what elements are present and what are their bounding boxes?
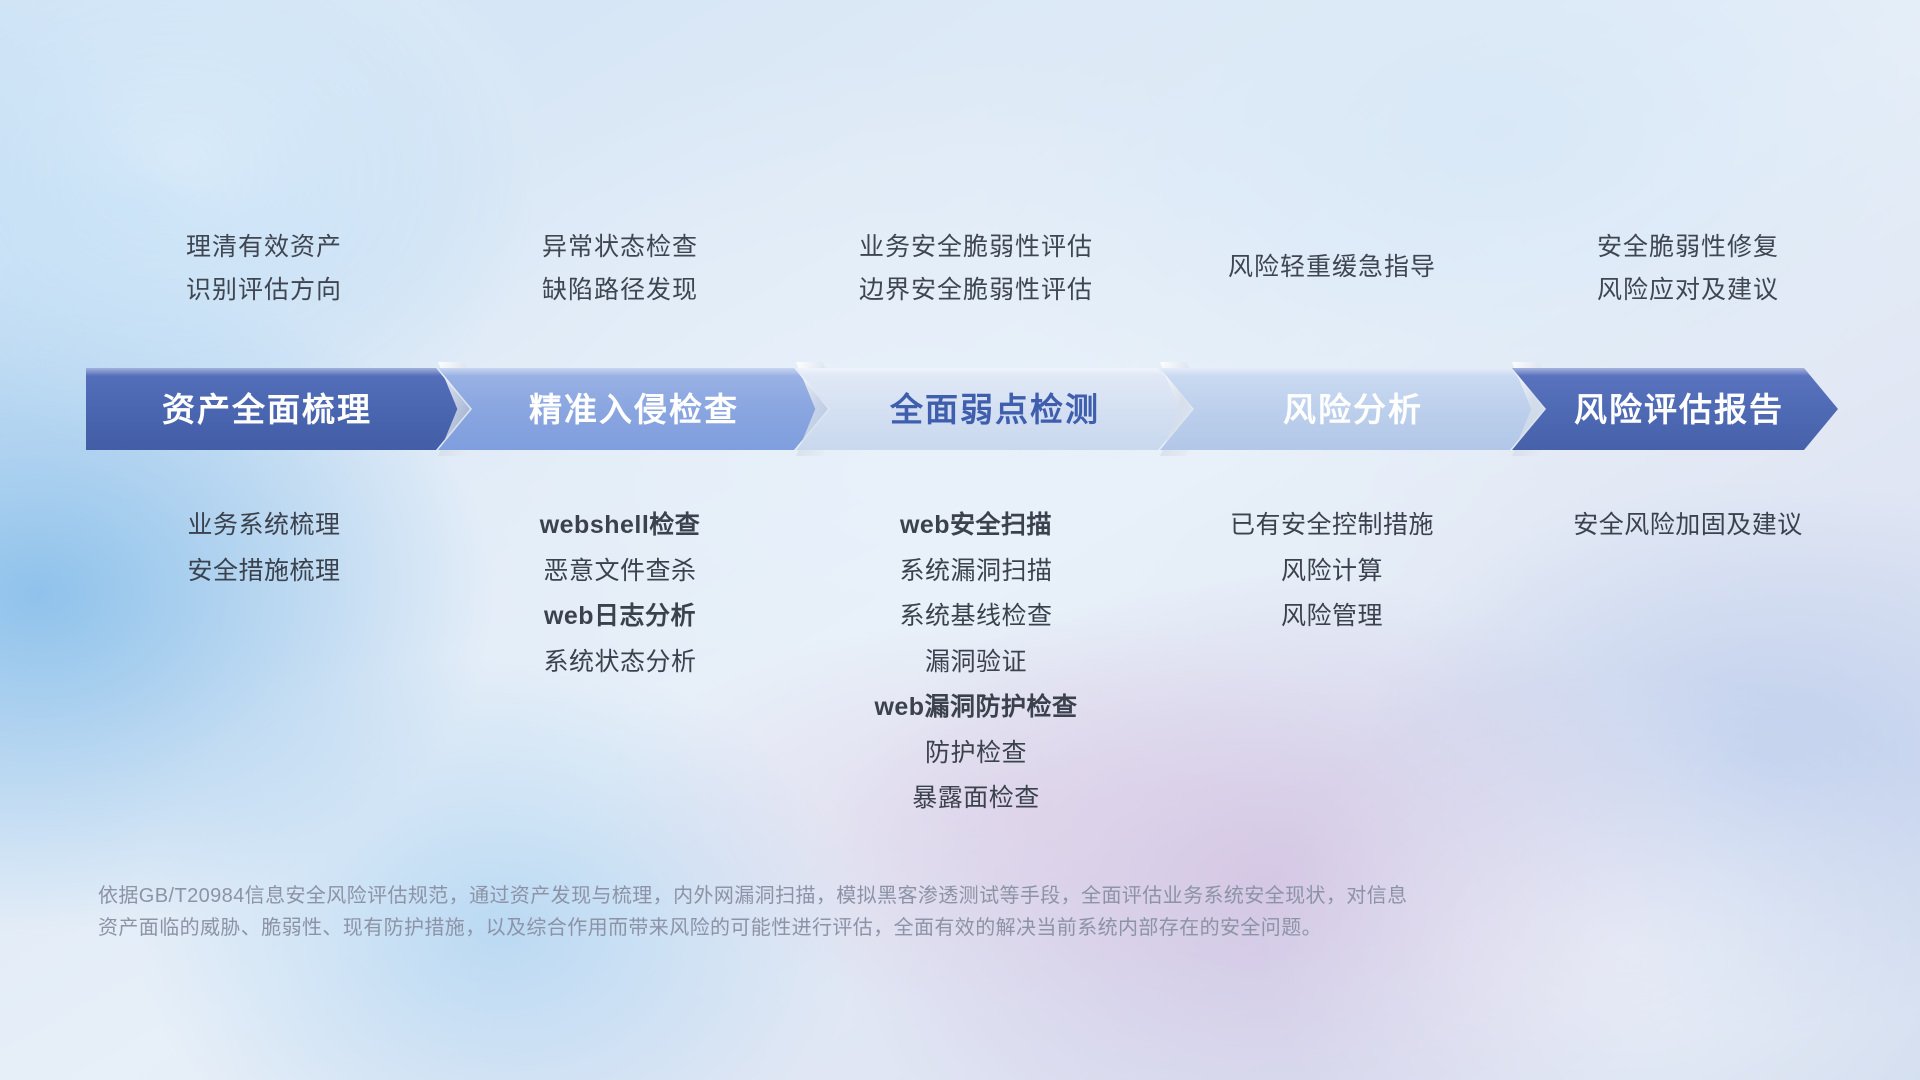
footer-line-1: 依据GB/T20984信息安全风险评估规范，通过资产发现与梳理，内外网漏洞扫描，… <box>98 880 1618 912</box>
bottom-item: 暴露面检查 <box>912 783 1040 814</box>
top-item: 缺陷路径发现 <box>542 275 698 306</box>
top-item: 边界安全脆弱性评估 <box>859 275 1093 306</box>
bottom-item: 安全风险加固及建议 <box>1573 510 1803 541</box>
column-2-top-list: 异常状态检查 缺陷路径发现 <box>442 232 798 307</box>
process-chevron-band: 资产全面梳理 精准入侵检查 全面弱点检测 风险分析 风险评估报告 <box>86 368 1838 450</box>
column-3-bottom-list: web安全扫描 系统漏洞扫描 系统基线检查 漏洞验证 web漏洞防护检查 防护检… <box>798 510 1154 814</box>
bottom-item: 防护检查 <box>925 738 1027 769</box>
column-5-top-list: 安全脆弱性修复 风险应对及建议 <box>1510 232 1866 307</box>
column-1-top-list: 理清有效资产 识别评估方向 <box>86 232 442 307</box>
slide-canvas: 理清有效资产 识别评估方向 业务系统梳理 安全措施梳理 异常状态检查 缺陷路径发… <box>0 0 1920 1080</box>
top-item: 异常状态检查 <box>542 232 698 263</box>
bottom-item: web日志分析 <box>544 601 696 632</box>
column-1-bottom-list: 业务系统梳理 安全措施梳理 <box>86 510 442 586</box>
chevron-stage-3[interactable]: 全面弱点检测 <box>796 368 1192 450</box>
chevron-sheen <box>86 368 470 376</box>
bottom-item: 系统漏洞扫描 <box>899 556 1052 587</box>
top-item: 识别评估方向 <box>186 275 342 306</box>
bottom-item: 风险计算 <box>1281 556 1383 587</box>
footer-line-2: 资产面临的威胁、脆弱性、现有防护措施，以及综合作用而带来风险的可能性进行评估，全… <box>98 912 1618 944</box>
bottom-item: 系统状态分析 <box>543 647 696 678</box>
chevron-label: 精准入侵检查 <box>438 393 828 426</box>
bottom-item: 业务系统梳理 <box>187 510 340 541</box>
chevron-stage-4[interactable]: 风险分析 <box>1160 368 1544 450</box>
chevron-sheen <box>1160 368 1544 376</box>
bottom-item: 漏洞验证 <box>925 647 1027 678</box>
chevron-sheen <box>438 368 828 376</box>
bottom-item: web漏洞防护检查 <box>874 692 1077 723</box>
bottom-item: 已有安全控制措施 <box>1230 510 1434 541</box>
chevron-stage-5[interactable]: 风险评估报告 <box>1512 368 1838 450</box>
chevron-stage-1[interactable]: 资产全面梳理 <box>86 368 470 450</box>
chevron-sheen <box>1512 368 1838 376</box>
bottom-item: web安全扫描 <box>900 510 1052 541</box>
column-3-top-list: 业务安全脆弱性评估 边界安全脆弱性评估 <box>798 232 1154 307</box>
column-4-top-list: 风险轻重缓急指导 <box>1154 252 1510 283</box>
chevron-label: 风险分析 <box>1160 393 1544 426</box>
top-item: 风险应对及建议 <box>1597 275 1779 306</box>
top-item: 理清有效资产 <box>186 232 342 263</box>
chevron-label: 全面弱点检测 <box>796 393 1192 426</box>
bottom-item: 系统基线检查 <box>899 601 1052 632</box>
top-item: 风险轻重缓急指导 <box>1228 252 1436 283</box>
bottom-item: webshell检查 <box>540 510 701 541</box>
bottom-item: 恶意文件查杀 <box>543 556 696 587</box>
column-4-bottom-list: 已有安全控制措施 风险计算 风险管理 <box>1154 510 1510 632</box>
column-5-bottom-list: 安全风险加固及建议 <box>1510 510 1866 541</box>
chevron-stage-2[interactable]: 精准入侵检查 <box>438 368 828 450</box>
chevron-label: 资产全面梳理 <box>86 393 470 426</box>
footer-description: 依据GB/T20984信息安全风险评估规范，通过资产发现与梳理，内外网漏洞扫描，… <box>98 880 1618 945</box>
chevron-label: 风险评估报告 <box>1512 393 1838 426</box>
column-2-bottom-list: webshell检查 恶意文件查杀 web日志分析 系统状态分析 <box>442 510 798 677</box>
top-item: 安全脆弱性修复 <box>1597 232 1779 263</box>
bottom-item: 安全措施梳理 <box>187 556 340 587</box>
chevron-sheen <box>796 368 1192 376</box>
top-item: 业务安全脆弱性评估 <box>859 232 1093 263</box>
bottom-item: 风险管理 <box>1281 601 1383 632</box>
